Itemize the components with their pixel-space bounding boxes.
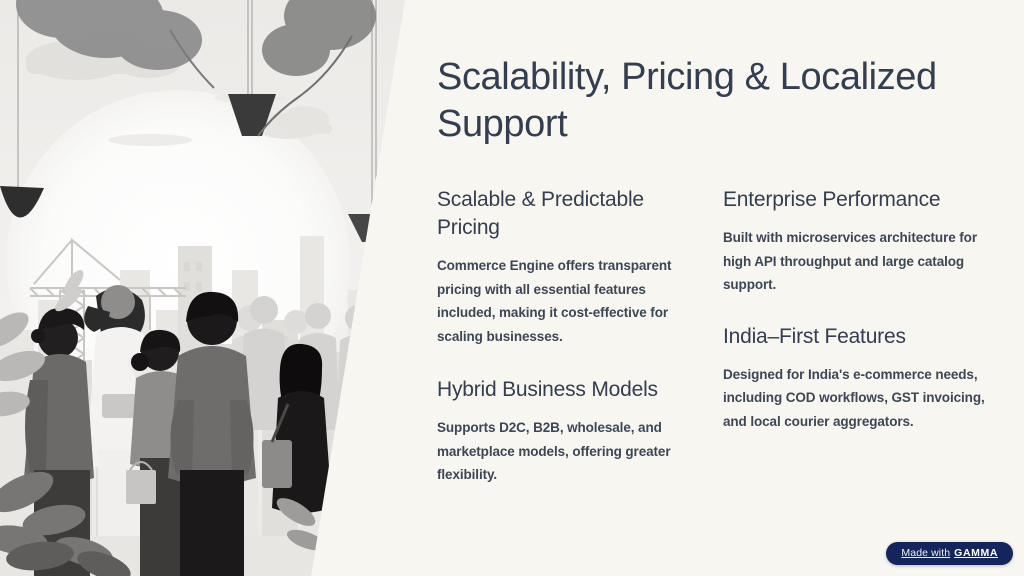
feature-section-hybrid-business-models: Hybrid Business Models Supports D2C, B2B… bbox=[437, 376, 692, 487]
slide: Scalability, Pricing & Localized Support… bbox=[0, 0, 1024, 576]
feature-body: Commerce Engine offers transparent prici… bbox=[437, 254, 692, 348]
grayscale-city-crowd-illustration bbox=[0, 0, 410, 576]
made-with-gamma-badge[interactable]: Made with GAMMA bbox=[886, 542, 1013, 565]
content-area: Scalability, Pricing & Localized Support… bbox=[437, 0, 1024, 576]
feature-heading: Hybrid Business Models bbox=[437, 376, 692, 404]
feature-heading: Scalable & Predictable Pricing bbox=[437, 186, 692, 242]
right-feature-column: Enterprise Performance Built with micros… bbox=[723, 186, 985, 437]
feature-body: Designed for India's e-commerce needs, i… bbox=[723, 363, 985, 434]
feature-section-india-first-features: India–First Features Designed for India'… bbox=[723, 323, 985, 434]
page-title: Scalability, Pricing & Localized Support bbox=[437, 54, 997, 148]
badge-made-with-label: Made with bbox=[901, 548, 950, 559]
feature-body: Built with microservices architecture fo… bbox=[723, 226, 985, 297]
feature-section-enterprise-performance: Enterprise Performance Built with micros… bbox=[723, 186, 985, 297]
left-feature-column: Scalable & Predictable Pricing Commerce … bbox=[437, 186, 692, 491]
feature-heading: Enterprise Performance bbox=[723, 186, 985, 214]
feature-body: Supports D2C, B2B, wholesale, and market… bbox=[437, 416, 692, 487]
feature-section-scalable-pricing: Scalable & Predictable Pricing Commerce … bbox=[437, 186, 692, 348]
feature-heading: India–First Features bbox=[723, 323, 985, 351]
badge-brand-label: GAMMA bbox=[954, 548, 998, 559]
